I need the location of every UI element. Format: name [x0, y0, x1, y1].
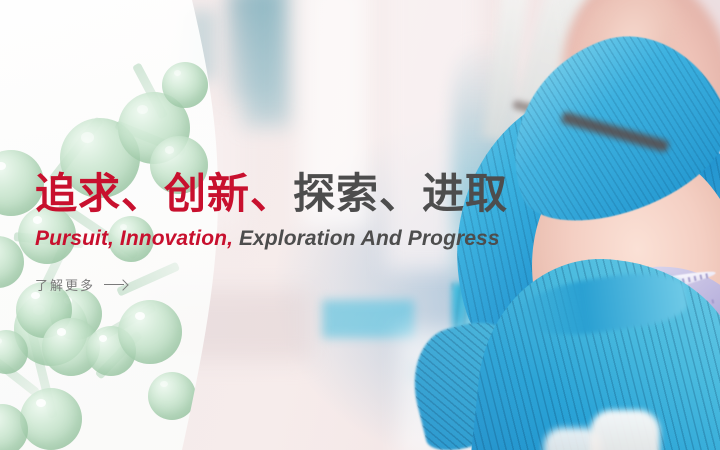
learn-more-link[interactable]: 了解更多 [35, 275, 128, 294]
molecule-atom [148, 372, 196, 420]
molecule-atom [118, 300, 182, 364]
subtitle-gray-segment: Exploration And Progress [233, 227, 500, 250]
arrow-right-icon [104, 280, 128, 290]
learn-more-label: 了解更多 [35, 275, 95, 294]
subtitle-red-segment: Pursuit, Innovation, [35, 227, 233, 250]
page-subtitle: Pursuit, Innovation, Exploration And Pro… [35, 226, 675, 251]
hero-banner: 追求、创新、探索、进取 Pursuit, Innovation, Explora… [0, 0, 720, 450]
page-title: 追求、创新、探索、进取 [35, 170, 675, 218]
headline-gray-segment: 探索、进取 [293, 170, 508, 217]
hero-copy: 追求、创新、探索、进取 Pursuit, Innovation, Explora… [35, 170, 675, 295]
headline-red-segment: 追求、创新、 [35, 170, 293, 217]
molecule-atom [20, 388, 82, 450]
lab-container-1 [590, 410, 660, 450]
lab-shelf-teal [243, 0, 291, 125]
molecule-atom [162, 62, 208, 108]
